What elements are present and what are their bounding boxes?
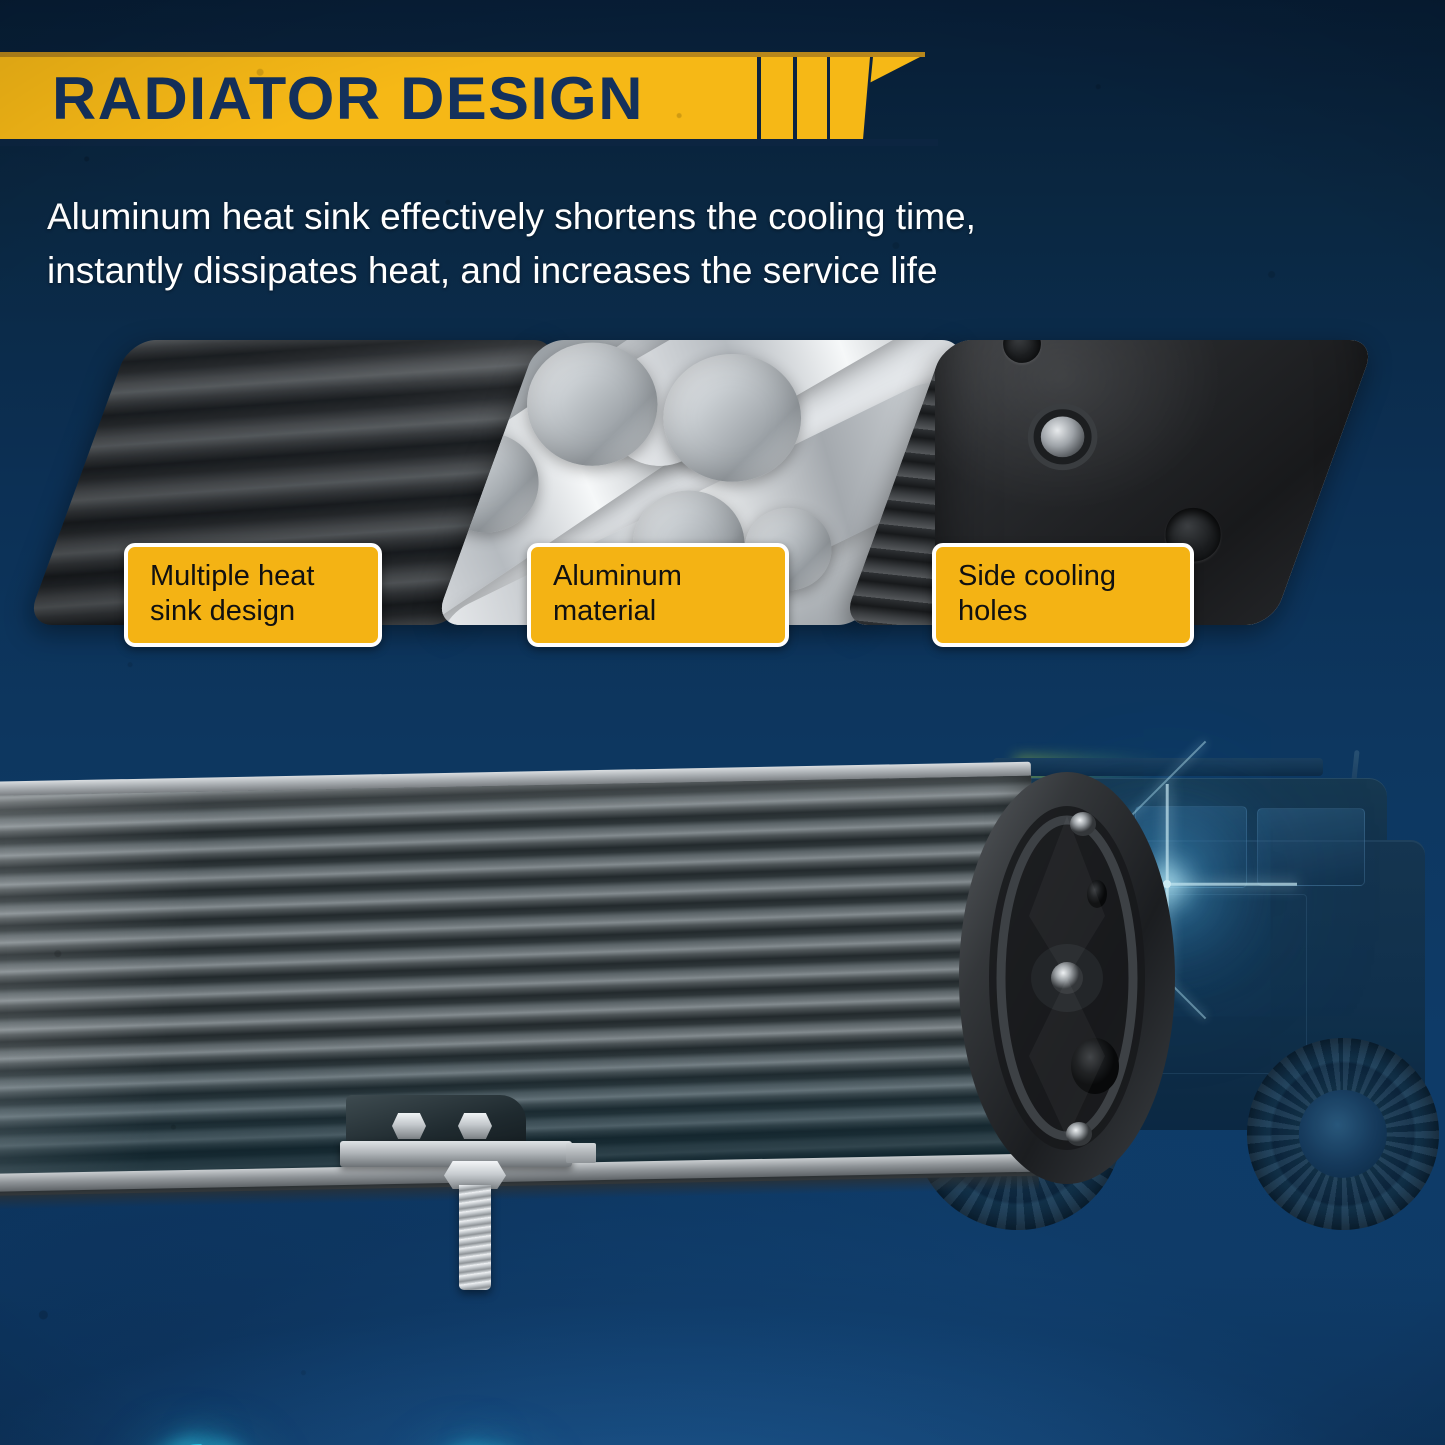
banner-bottom-rule (0, 139, 938, 146)
subtitle-line-2: instantly dissipates heat, and increases… (47, 244, 1177, 298)
feature-label-line-1: Multiple heat (150, 559, 362, 594)
header-banner: RADIATOR DESIGN (0, 52, 1445, 152)
bracket-threaded-stud (459, 1185, 491, 1290)
end-cap-screw-top-icon (1070, 812, 1096, 836)
airflow-loop-2 (375, 1440, 590, 1445)
aluminum-rod-face-2 (664, 354, 801, 482)
end-cap-hex-bolt-top (1040, 416, 1084, 457)
mounting-bracket (340, 1085, 600, 1325)
feature-label-line-1: Aluminum (553, 559, 769, 594)
infographic-canvas: RADIATOR DESIGN Aluminum heat sink effec… (0, 0, 1445, 1445)
subtitle-line-1: Aluminum heat sink effectively shortens … (47, 190, 1177, 244)
banner-accent-stripe-3 (830, 57, 870, 139)
bracket-nut-2 (458, 1113, 492, 1139)
vehicle-window-rear (1257, 808, 1365, 886)
light-bar-end-cap (955, 766, 1185, 1196)
subtitle-text: Aluminum heat sink effectively shortens … (47, 190, 1177, 298)
airflow-loop-1 (100, 1430, 310, 1445)
feature-label-side-cooling-holes: Side cooling holes (932, 543, 1194, 647)
wheel-hub (1299, 1090, 1387, 1178)
aluminum-rod-face-1 (526, 342, 657, 466)
feature-label-line-2: material (553, 594, 769, 629)
feature-label-multiple-heat-sink: Multiple heat sink design (124, 543, 382, 647)
feature-label-line-2: sink design (150, 594, 362, 629)
vehicle-wheel-rear (1247, 1038, 1439, 1230)
bracket-nut-1 (392, 1113, 426, 1139)
feature-label-line-1: Side cooling (958, 559, 1174, 594)
banner-title: RADIATOR DESIGN (52, 60, 644, 138)
feature-label-line-2: holes (958, 594, 1174, 629)
banner-top-rule (0, 52, 925, 57)
main-product-scene (0, 700, 1445, 1445)
feature-label-aluminum-material: Aluminum material (527, 543, 789, 647)
